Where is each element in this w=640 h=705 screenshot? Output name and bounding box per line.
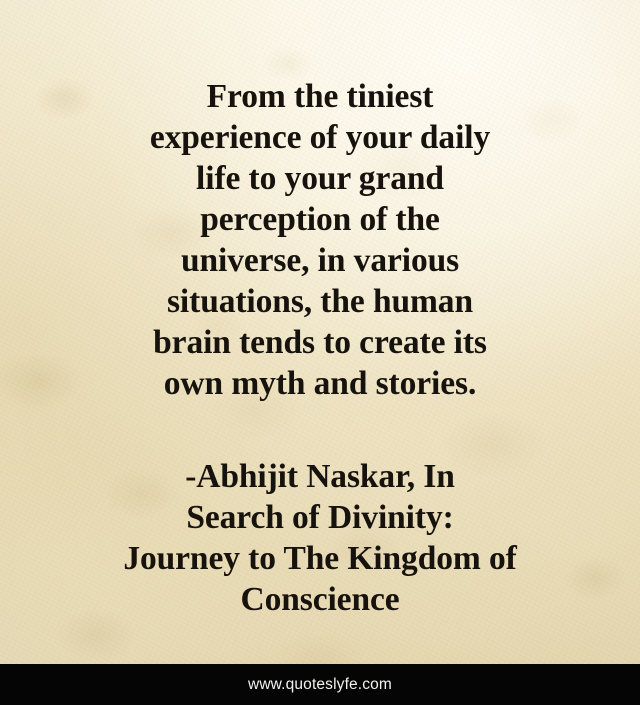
quote-text: From the tiniest experience of your dail… [85,76,555,404]
quote-content-area: From the tiniest experience of your dail… [0,0,640,664]
quote-attribution: -Abhijit Naskar, In Search of Divinity: … [70,456,570,620]
website-watermark: www.quoteslyfe.com [248,676,392,694]
quote-line: experience of your daily [85,117,555,158]
quote-line: From the tiniest [85,76,555,117]
quote-line: life to your grand [85,158,555,199]
quote-line: own myth and stories. [85,363,555,404]
attribution-line: Journey to The Kingdom of [70,538,570,579]
quote-line: perception of the [85,199,555,240]
quote-line: brain tends to create its [85,322,555,363]
attribution-line: Search of Divinity: [70,497,570,538]
quote-card: From the tiniest experience of your dail… [0,0,640,705]
quote-line: universe, in various [85,240,555,281]
quote-line: situations, the human [85,281,555,322]
attribution-line: Conscience [70,579,570,620]
attribution-line: -Abhijit Naskar, In [70,456,570,497]
footer-watermark-bar: www.quoteslyfe.com [0,664,640,705]
